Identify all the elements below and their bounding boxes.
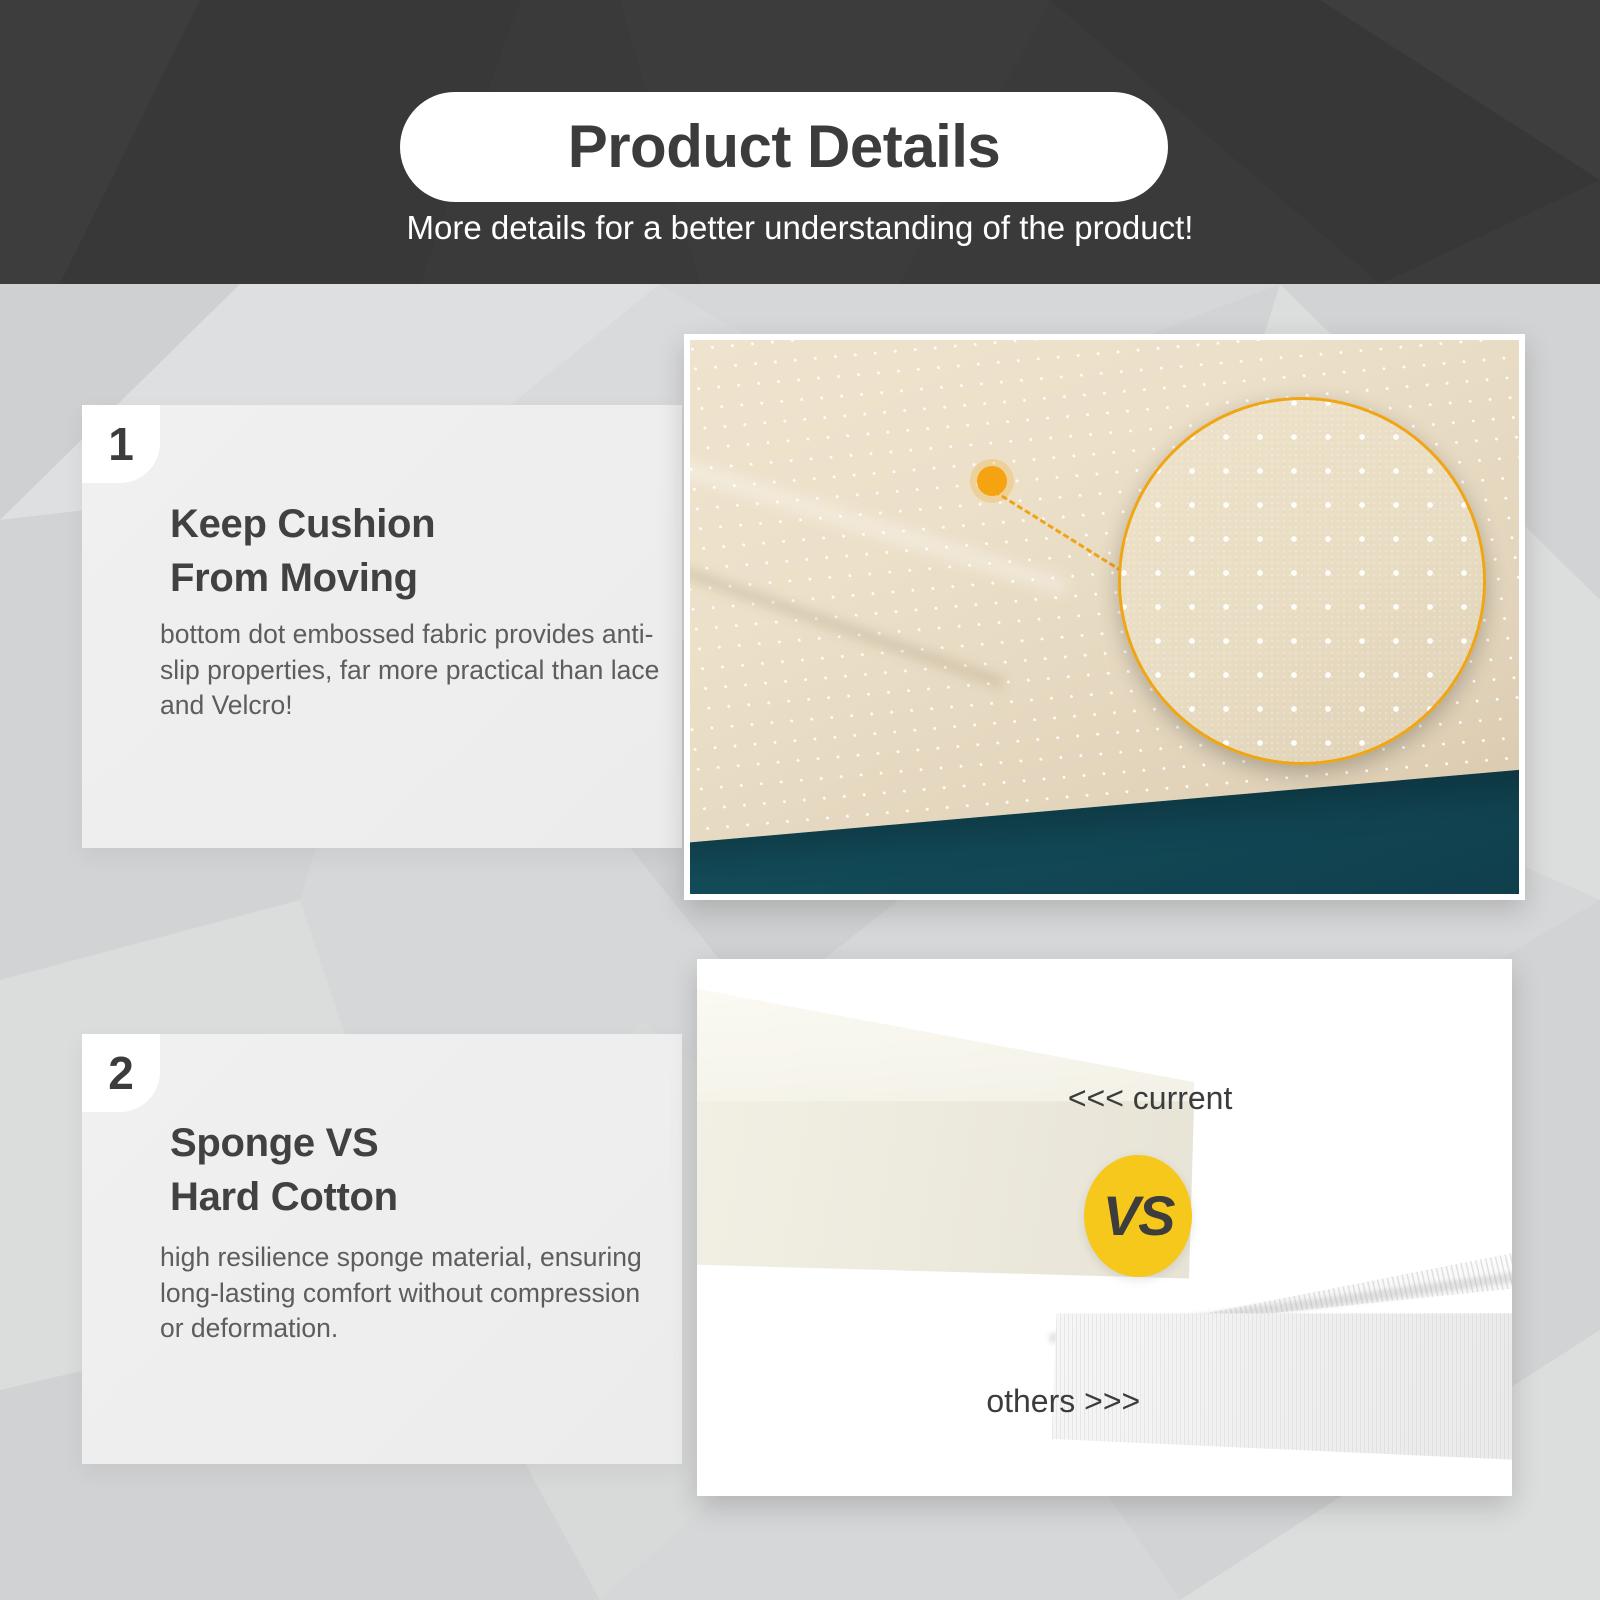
fabric-fold-shadow bbox=[690, 560, 1003, 688]
product-photo-sponge-vs-cotton: <<< current VS others >>> bbox=[697, 959, 1512, 1496]
feature-number-1: 1 bbox=[108, 421, 134, 467]
feature-heading-1: Keep Cushion From Moving bbox=[170, 497, 435, 605]
feature-heading-1-line1: Keep Cushion bbox=[170, 497, 435, 551]
vs-label: VS bbox=[1103, 1188, 1174, 1244]
feature-number-badge-1: 1 bbox=[82, 405, 160, 483]
photo2-scene: <<< current VS others >>> bbox=[697, 959, 1512, 1496]
label-others: others >>> bbox=[986, 1383, 1140, 1420]
feature-number-2: 2 bbox=[108, 1050, 134, 1096]
photo1-scene bbox=[690, 340, 1519, 894]
feature-heading-1-line2: From Moving bbox=[170, 551, 435, 605]
page-title-pill: Product Details bbox=[400, 92, 1168, 202]
page-subtitle: More details for a better understanding … bbox=[0, 209, 1600, 247]
feature-body-2: high resilience sponge material, ensurin… bbox=[160, 1240, 660, 1347]
label-current: <<< current bbox=[1068, 1080, 1233, 1117]
feature-card-2: 2 Sponge VS Hard Cotton high resilience … bbox=[82, 1034, 682, 1464]
feature-number-badge-2: 2 bbox=[82, 1034, 160, 1112]
magnifier-circle bbox=[1118, 397, 1486, 765]
vs-badge: VS bbox=[1084, 1155, 1192, 1277]
callout-dot-marker bbox=[977, 466, 1007, 496]
page-title: Product Details bbox=[568, 117, 1001, 177]
page-header: Product Details More details for a bette… bbox=[0, 0, 1600, 284]
feature-card-1: 1 Keep Cushion From Moving bottom dot em… bbox=[82, 405, 682, 848]
feature-body-1: bottom dot embossed fabric provides anti… bbox=[160, 617, 660, 724]
feature-heading-2-line2: Hard Cotton bbox=[170, 1170, 398, 1224]
product-photo-antislip-fabric bbox=[684, 334, 1525, 900]
feature-heading-2: Sponge VS Hard Cotton bbox=[170, 1116, 398, 1224]
feature-heading-2-line1: Sponge VS bbox=[170, 1116, 398, 1170]
fabric-fold-highlight bbox=[690, 455, 1068, 596]
